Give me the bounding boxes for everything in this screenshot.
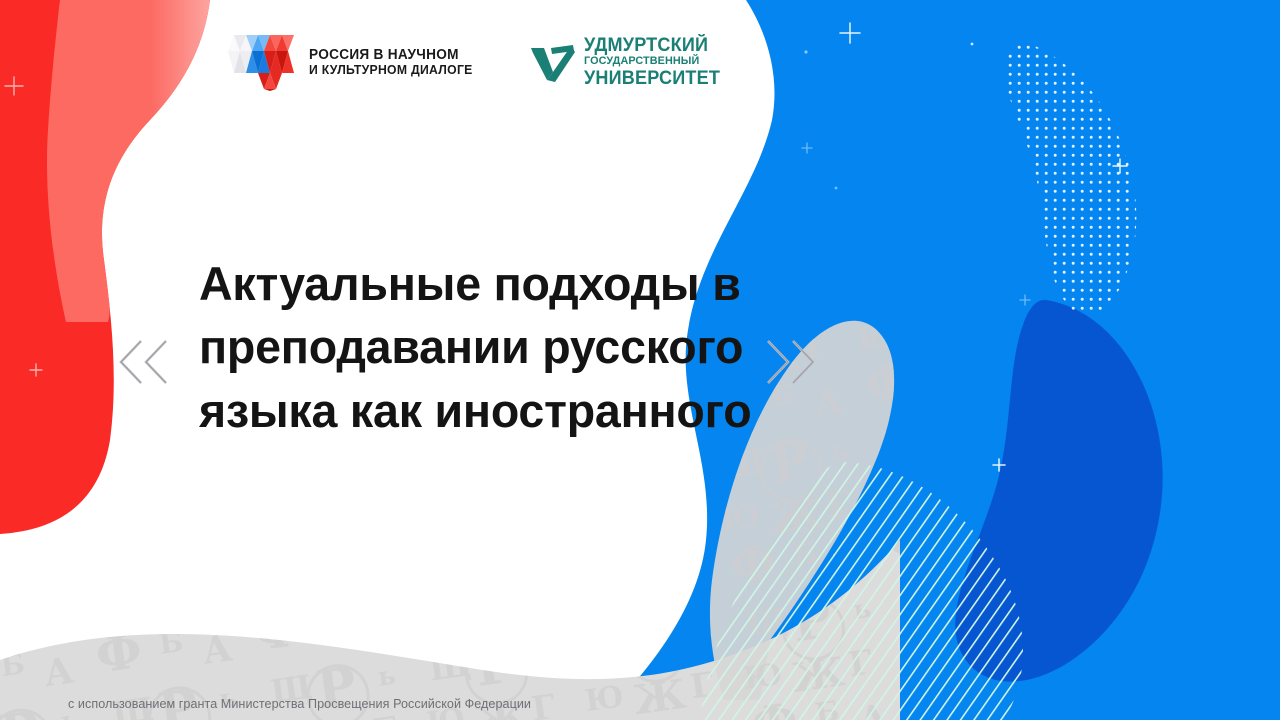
title-container: Актуальные подходы в преподавании русско… <box>199 252 759 442</box>
russia-dialogue-line1: РОССИЯ В НАУЧНОМ <box>309 48 473 63</box>
russia-dialogue-diamond-logo <box>228 33 300 91</box>
presentation-slide: Ж Ъ Д Ш Ф Э Ю Е Щ М ч <box>0 0 1280 720</box>
blue-dark-inner-lobe <box>955 300 1162 682</box>
logo-russia-dialogue[interactable]: РОССИЯ В НАУЧНОМ И КУЛЬТУРНОМ ДИАЛОГЕ <box>228 33 483 91</box>
blue-bright-lobe-lower <box>700 483 1030 720</box>
udsu-line3: УНИВЕРСИТЕТ <box>584 69 720 88</box>
diagonal-hatch-pattern <box>690 450 1050 720</box>
logo-udsu[interactable]: УДМУРТСКИЙ ГОСУДАРСТВЕННЫЙ УНИВЕРСИТЕТ <box>531 36 727 87</box>
logo-row: РОССИЯ В НАУЧНОМ И КУЛЬТУРНОМ ДИАЛОГЕ УД… <box>228 33 727 91</box>
title-line-1: Актуальные подходы в <box>199 252 753 315</box>
page-title: Актуальные подходы в преподавании русско… <box>199 252 753 442</box>
russia-dialogue-line2: И КУЛЬТУРНОМ ДИАЛОГЕ <box>309 63 473 77</box>
russia-dialogue-wordmark: РОССИЯ В НАУЧНОМ И КУЛЬТУРНОМ ДИАЛОГЕ <box>309 48 483 77</box>
grant-caption: с использованием гранта Министерства Про… <box>68 697 531 711</box>
udsu-checkmark-logo <box>531 42 575 82</box>
blue-dark-shape <box>1000 0 1280 720</box>
udsu-line1: УДМУРТСКИЙ <box>584 36 720 55</box>
red-blob <box>0 0 230 540</box>
chevron-right-ornament <box>762 336 818 388</box>
blue-letter-texture-region <box>840 0 1280 720</box>
udsu-wordmark: УДМУРТСКИЙ ГОСУДАРСТВЕННЫЙ УНИВЕРСИТЕТ <box>584 36 727 87</box>
chevron-left-ornament <box>116 336 172 388</box>
gray-footer-band <box>0 520 900 720</box>
udsu-line2: ГОСУДАРСТВЕННЫЙ <box>584 56 720 67</box>
dotted-halftone-patch <box>1004 40 1137 315</box>
title-line-3: языка как иностранного <box>199 379 753 442</box>
red-letter-overlay <box>47 0 214 322</box>
title-line-2: преподавании русского <box>199 315 753 378</box>
